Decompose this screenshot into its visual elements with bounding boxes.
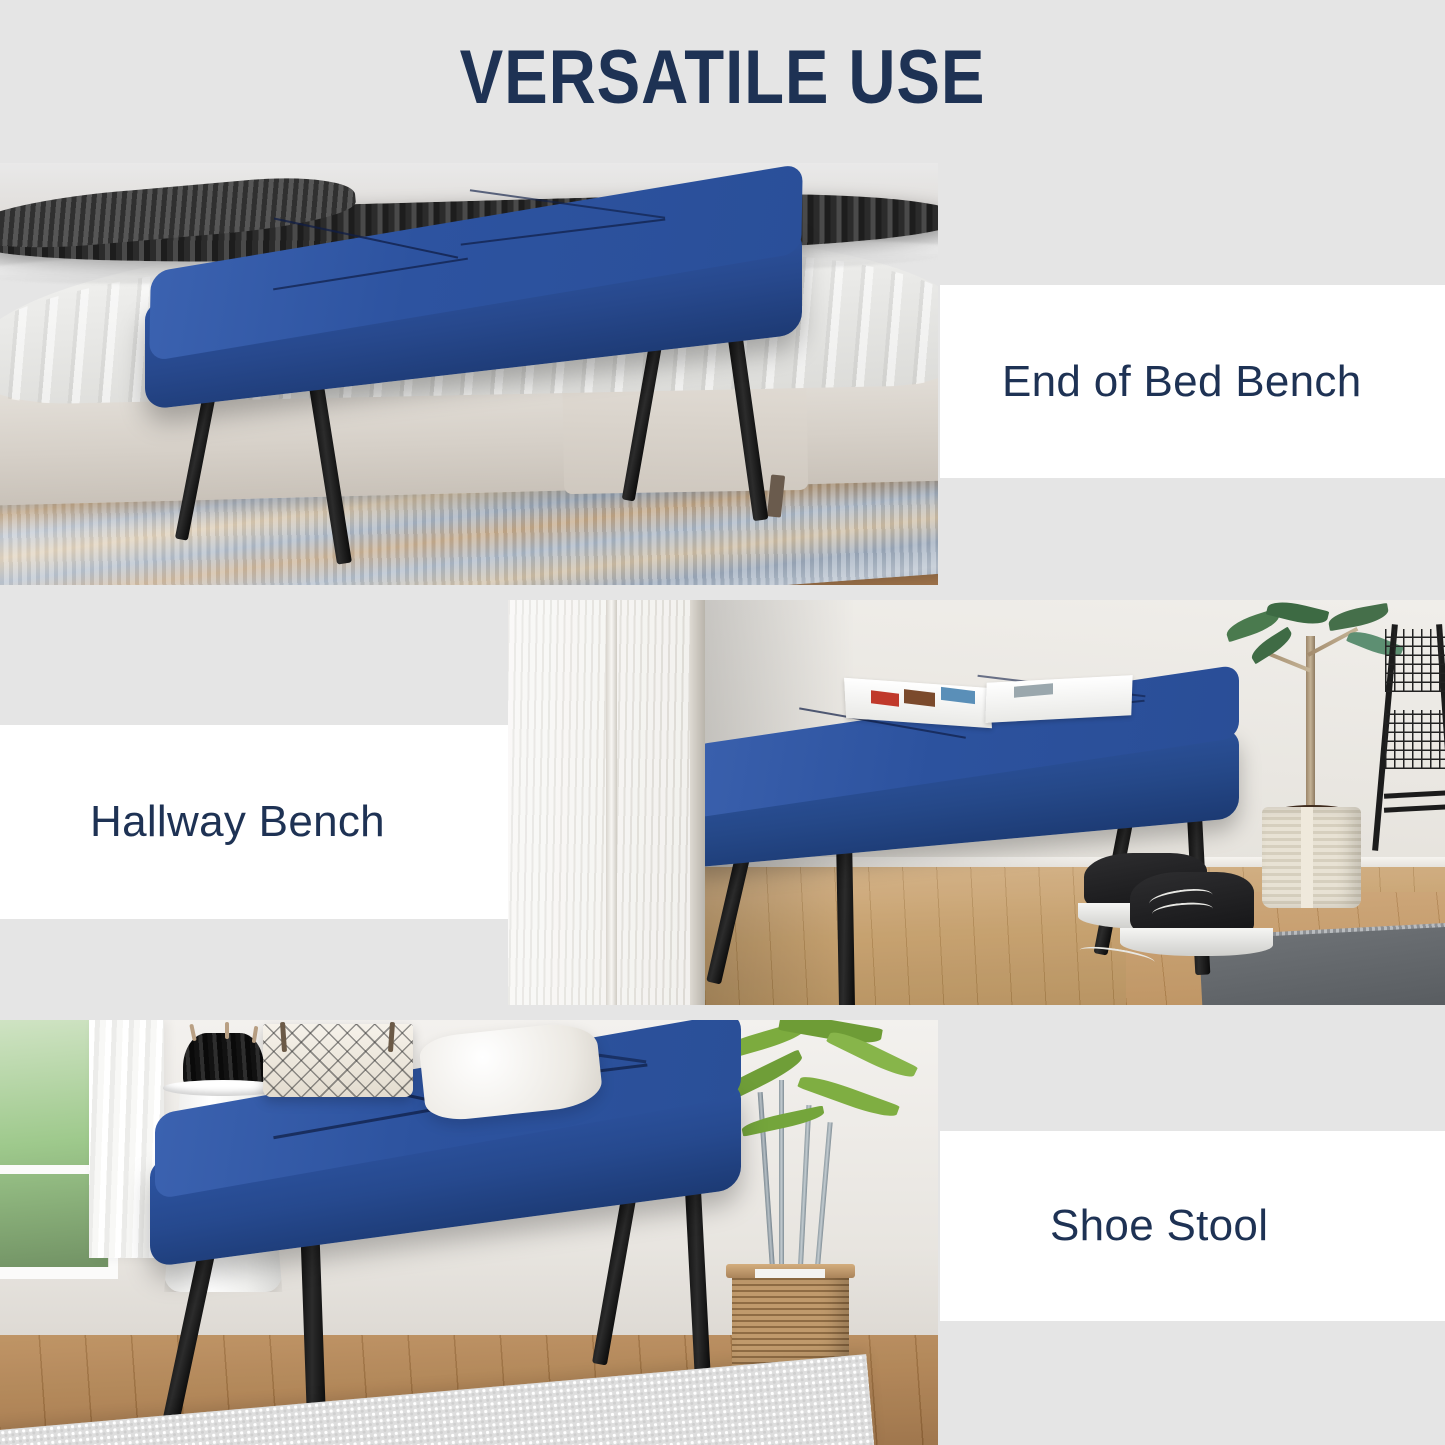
label-band-shoe-stool: Shoe Stool: [940, 1131, 1445, 1321]
door-panel-groove: [606, 600, 616, 1005]
wire-shoe-rack: [1379, 624, 1445, 851]
bench-leg-front-left: [836, 835, 855, 1005]
plant-basket-band: [1301, 807, 1313, 908]
label-shoe-stool: Shoe Stool: [1050, 1201, 1268, 1251]
rack-basket-middle: [1385, 710, 1445, 769]
open-magazine: [845, 677, 1126, 726]
wood-planter-inner: [755, 1269, 825, 1278]
rack-shelf-bar-2: [1384, 804, 1445, 812]
magazine-page-right: [985, 675, 1132, 723]
label-hallway-bench: Hallway Bench: [90, 797, 385, 847]
rack-shelf-bar: [1384, 790, 1445, 798]
scene-photo-shoe-stool: [0, 1020, 938, 1445]
sneaker-right-sole: [1120, 928, 1273, 955]
rack-basket-top: [1385, 629, 1445, 693]
scene-photo-hallway-bench: [508, 600, 1445, 1005]
sneaker-right: [1117, 867, 1276, 972]
label-end-of-bed-bench: End of Bed Bench: [1002, 357, 1362, 407]
infographic-stage: VERSATILE USE: [0, 0, 1445, 1445]
page-title: VERSATILE USE: [101, 34, 1344, 121]
plant-trunk: [1306, 636, 1314, 810]
umbrella-tip-2: [225, 1022, 229, 1039]
palm-stem-1: [779, 1080, 784, 1276]
label-band-end-of-bed-bench: End of Bed Bench: [940, 285, 1445, 478]
scene-photo-end-of-bed-bench: [0, 163, 938, 585]
label-band-hallway-bench: Hallway Bench: [0, 725, 508, 919]
door-frame-edge: [690, 600, 705, 1005]
